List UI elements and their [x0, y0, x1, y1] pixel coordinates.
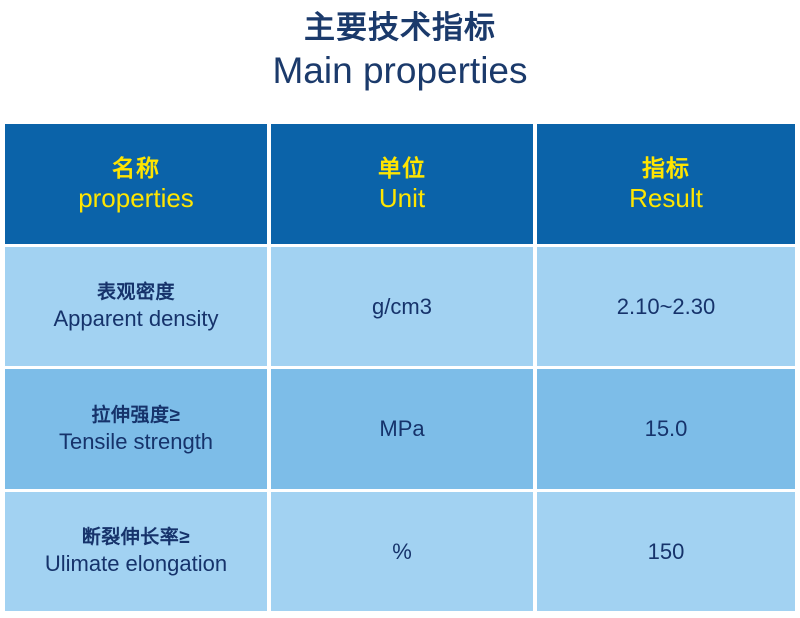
property-result-value: 150 — [648, 538, 685, 565]
cell-property-result: 15.0 — [537, 369, 795, 489]
property-name-english: Tensile strength — [59, 428, 213, 455]
property-name-chinese: 表观密度 — [97, 280, 175, 305]
table-header-cell-unit: 单位 Unit — [271, 124, 533, 244]
table-row: 拉伸强度≥ Tensile strength MPa 15.0 — [5, 369, 795, 489]
header-unit-chinese: 单位 — [378, 153, 426, 183]
property-unit-value: % — [392, 538, 412, 565]
page-title-english: Main properties — [0, 48, 800, 94]
header-result-chinese: 指标 — [642, 153, 690, 183]
table-row: 表观密度 Apparent density g/cm3 2.10~2.30 — [5, 247, 795, 367]
cell-property-unit: g/cm3 — [271, 247, 533, 367]
property-result-value: 2.10~2.30 — [617, 293, 715, 320]
page-title: 主要技术指标 Main properties — [0, 8, 800, 94]
header-unit-english: Unit — [379, 183, 425, 214]
cell-property-unit: % — [271, 492, 533, 612]
property-unit-value: g/cm3 — [372, 293, 432, 320]
property-name-chinese: 断裂伸长率≥ — [82, 525, 190, 550]
cell-property-result: 150 — [537, 492, 795, 612]
main-properties-slide: 主要技术指标 Main properties 名称 properties 单位 … — [0, 0, 800, 618]
page-title-chinese: 主要技术指标 — [0, 8, 800, 48]
cell-property-name: 拉伸强度≥ Tensile strength — [5, 369, 267, 489]
table-header-row: 名称 properties 单位 Unit 指标 Result — [5, 124, 795, 244]
property-name-english: Apparent density — [53, 305, 218, 332]
property-name-chinese: 拉伸强度≥ — [92, 403, 181, 428]
header-properties-english: properties — [78, 183, 194, 214]
cell-property-unit: MPa — [271, 369, 533, 489]
table-header-cell-properties: 名称 properties — [5, 124, 267, 244]
property-name-english: Ulimate elongation — [45, 550, 227, 577]
cell-property-name: 表观密度 Apparent density — [5, 247, 267, 367]
properties-table: 名称 properties 单位 Unit 指标 Result 表观密度 App… — [5, 124, 795, 611]
header-properties-chinese: 名称 — [112, 153, 160, 183]
property-unit-value: MPa — [379, 415, 424, 442]
property-result-value: 15.0 — [645, 415, 688, 442]
cell-property-name: 断裂伸长率≥ Ulimate elongation — [5, 492, 267, 612]
table-row: 断裂伸长率≥ Ulimate elongation % 150 — [5, 492, 795, 612]
cell-property-result: 2.10~2.30 — [537, 247, 795, 367]
header-result-english: Result — [629, 183, 703, 214]
table-header-cell-result: 指标 Result — [537, 124, 795, 244]
